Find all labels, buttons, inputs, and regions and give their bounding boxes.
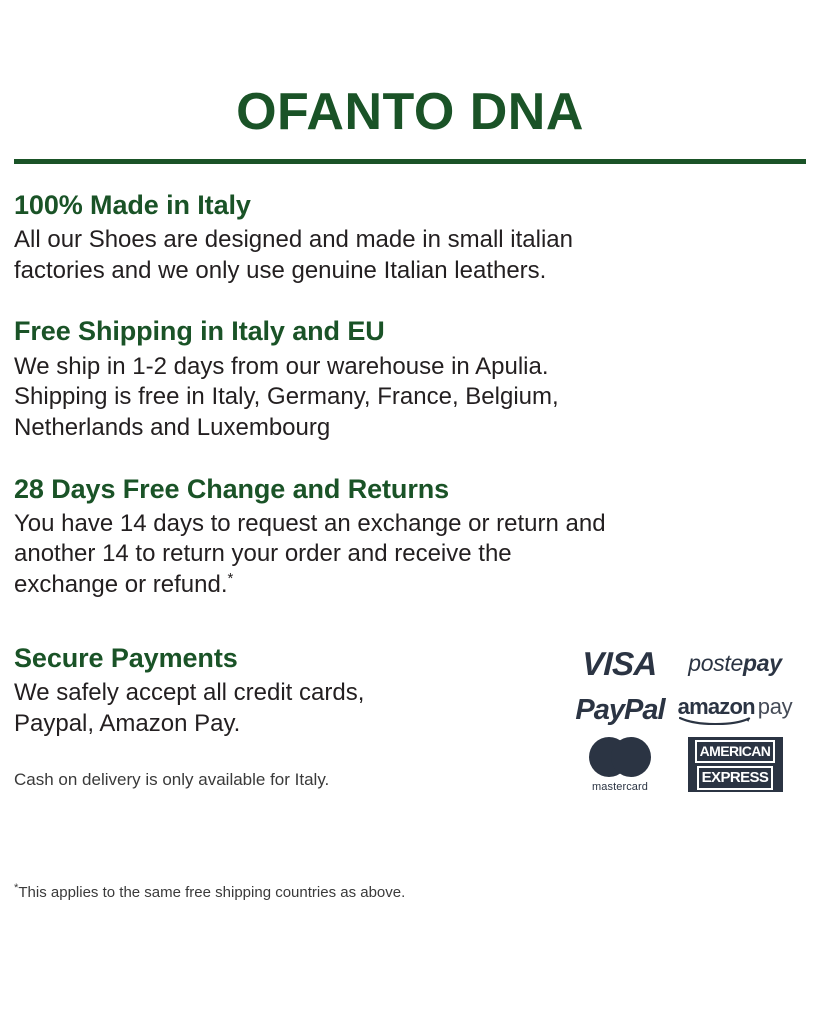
section-made-in-italy: 100% Made in Italy All our Shoes are des… xyxy=(14,190,806,286)
body-line: Shipping is free in Italy, Germany, Fran… xyxy=(14,382,789,413)
section-body: We safely accept all credit cards, Paypa… xyxy=(14,678,364,739)
section-heading: 28 Days Free Change and Returns xyxy=(14,474,806,505)
section-heading: Secure Payments xyxy=(14,643,364,674)
visa-logo-text: VISA xyxy=(582,645,658,683)
title-divider xyxy=(14,159,806,164)
amex-logo-line1: AMERICAN xyxy=(695,740,776,763)
section-heading: Free Shipping in Italy and EU xyxy=(14,316,806,347)
amex-logo-line2: EXPRESS xyxy=(697,766,774,790)
footnote-text: This applies to the same free shipping c… xyxy=(18,884,405,901)
amazon-pay-logo: amazonpay xyxy=(675,687,795,734)
mastercard-logo: mastercard xyxy=(570,734,670,796)
body-line: All our Shoes are designed and made in s… xyxy=(14,225,789,256)
mastercard-right-circle-icon xyxy=(611,737,651,777)
body-line-with-footnote-marker: exchange or refund.* xyxy=(14,570,789,601)
body-line-text: exchange or refund. xyxy=(14,571,227,598)
amazon-smile-arrow-icon xyxy=(679,716,753,725)
ofanto-dna-info-page: OFANTO DNA 100% Made in Italy All our Sh… xyxy=(0,0,820,1024)
body-line: another 14 to return your order and rece… xyxy=(14,539,789,570)
body-line: Netherlands and Luxembourg xyxy=(14,413,789,444)
body-line: Paypal, Amazon Pay. xyxy=(14,709,364,740)
body-line: factories and we only use genuine Italia… xyxy=(14,256,789,287)
amex-logo: AMERICAN EXPRESS xyxy=(675,734,795,796)
page-footnote: *This applies to the same free shipping … xyxy=(14,883,405,903)
body-line: We safely accept all credit cards, xyxy=(14,678,364,709)
section-secure-payments: Secure Payments We safely accept all cre… xyxy=(14,641,806,796)
page-title: OFANTO DNA xyxy=(14,0,806,138)
body-line: We ship in 1-2 days from our warehouse i… xyxy=(14,352,789,383)
postepay-logo: postepay xyxy=(675,641,795,687)
section-free-shipping: Free Shipping in Italy and EU We ship in… xyxy=(14,316,806,443)
amazon-pay-suffix: pay xyxy=(758,694,793,719)
section-body: We ship in 1-2 days from our warehouse i… xyxy=(14,352,789,444)
paypal-logo: PayPal xyxy=(570,687,670,734)
footnote-marker: * xyxy=(227,571,233,587)
section-body: All our Shoes are designed and made in s… xyxy=(14,225,789,286)
body-line: You have 14 days to request an exchange … xyxy=(14,509,789,540)
payment-logos-grid: VISA postepay PayPal amazonpay xyxy=(570,641,795,796)
postepay-logo-pay: pay xyxy=(743,650,782,676)
section-heading: 100% Made in Italy xyxy=(14,190,806,221)
cash-on-delivery-note: Cash on delivery is only available for I… xyxy=(14,769,364,790)
section-change-and-returns: 28 Days Free Change and Returns You have… xyxy=(14,474,806,601)
amazon-pay-logo-text: amazonpay xyxy=(678,696,793,725)
amex-logo-mark: AMERICAN EXPRESS xyxy=(688,737,783,792)
mastercard-logo-text: mastercard xyxy=(592,781,648,793)
payments-text-block: Secure Payments We safely accept all cre… xyxy=(14,641,364,791)
mastercard-logo-mark: mastercard xyxy=(589,737,651,793)
mastercard-circles-icon xyxy=(589,737,651,777)
paypal-logo-text: PayPal xyxy=(575,694,664,727)
section-body: You have 14 days to request an exchange … xyxy=(14,509,789,601)
postepay-logo-text: postepay xyxy=(688,650,782,677)
postepay-logo-poste: poste xyxy=(688,650,743,676)
visa-logo: VISA xyxy=(570,641,670,687)
